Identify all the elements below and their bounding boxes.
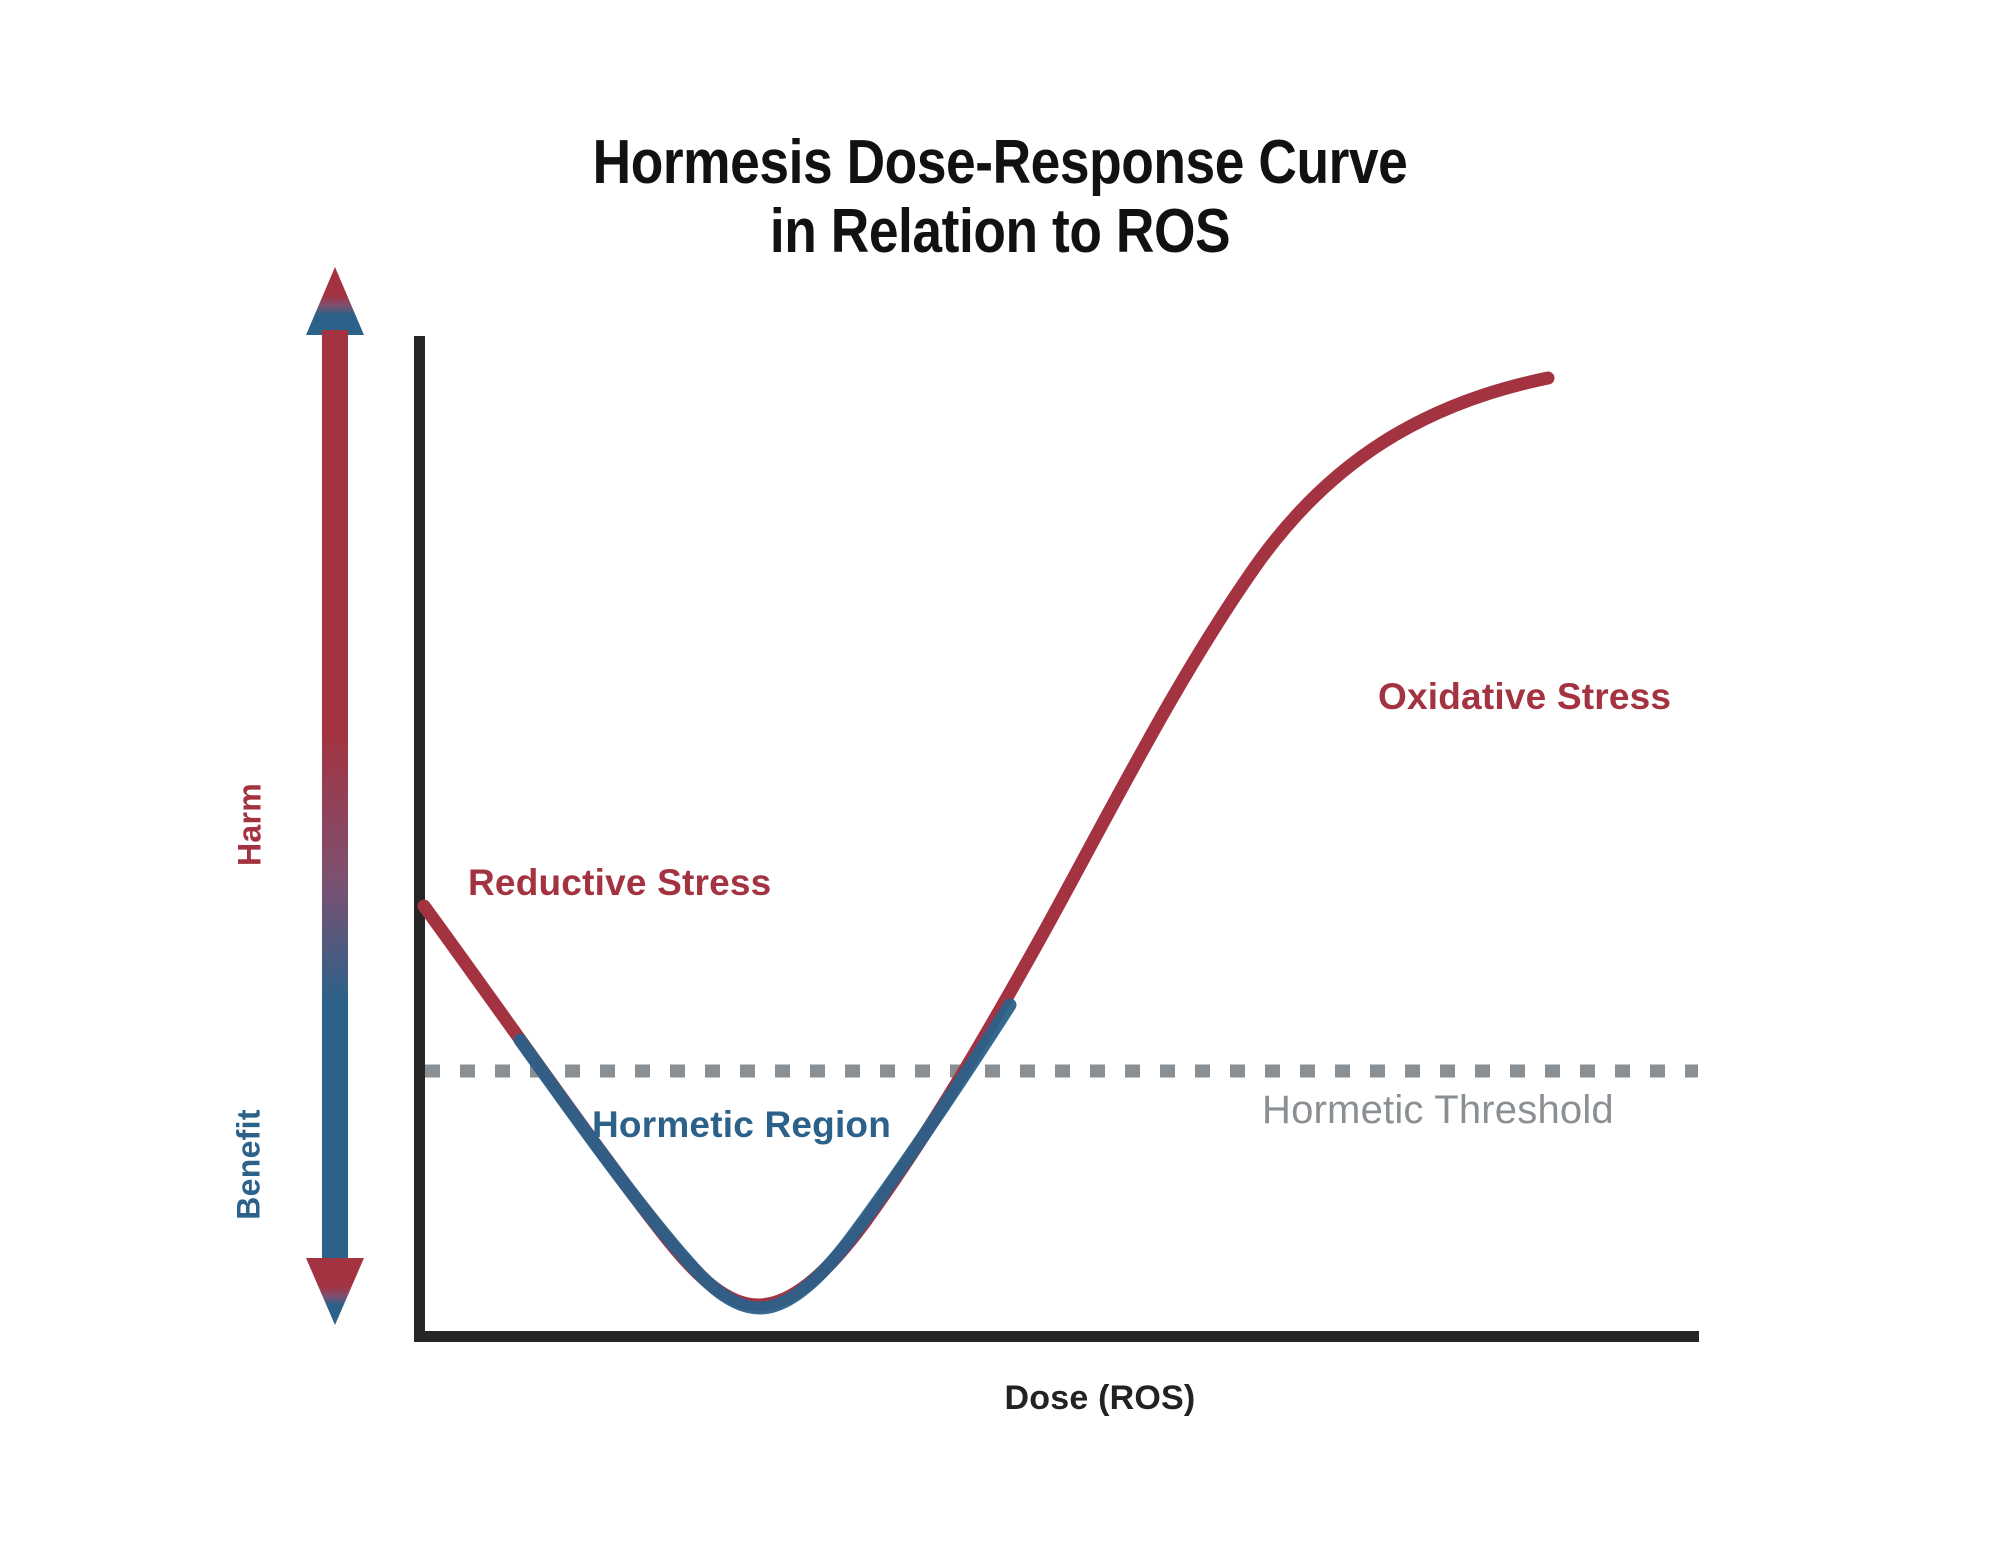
x-axis-title: Dose (ROS) bbox=[840, 1379, 1360, 1418]
plot-area bbox=[0, 0, 2000, 1555]
annotation-oxidative-stress: Oxidative Stress bbox=[1378, 676, 1671, 718]
annotation-reductive-stress: Reductive Stress bbox=[468, 862, 771, 904]
y-axis-label-benefit: Benefit bbox=[231, 1085, 268, 1245]
dose-response-curve-red bbox=[424, 378, 1548, 1305]
harm-benefit-arrow-icon bbox=[306, 267, 364, 1325]
annotation-hormetic-threshold: Hormetic Threshold bbox=[1262, 1088, 1614, 1133]
y-axis-line bbox=[414, 336, 425, 1341]
chart-canvas: Hormesis Dose-Response Curve in Relation… bbox=[0, 0, 2000, 1555]
hormetic-region-curve-blue bbox=[520, 1005, 1010, 1308]
y-axis-label-harm: Harm bbox=[232, 755, 269, 895]
x-axis-line bbox=[414, 1331, 1699, 1342]
annotation-hormetic-region: Hormetic Region bbox=[592, 1104, 891, 1146]
